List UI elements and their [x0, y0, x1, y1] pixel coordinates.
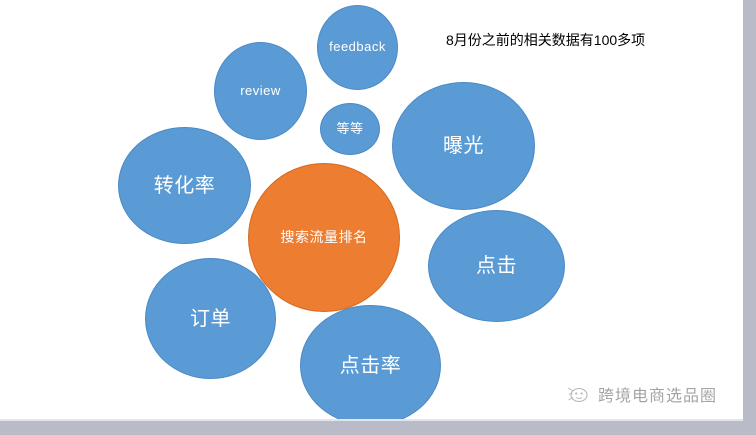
bubble-clicks[interactable]: 点击	[428, 210, 565, 322]
bubble-search-traffic-ranking[interactable]: 搜索流量排名	[248, 163, 400, 312]
bubble-label-exposure: 曝光	[443, 135, 484, 157]
bubble-label-conversion-rate: 转化率	[154, 175, 216, 197]
page-edge-bottom	[0, 421, 756, 435]
watermark: 跨境电商选品圈	[566, 382, 717, 406]
bubble-label-ctr: 点击率	[340, 355, 402, 377]
bubble-ctr[interactable]: 点击率	[300, 305, 441, 421]
bubble-conversion-rate[interactable]: 转化率	[118, 127, 251, 244]
bubble-label-clicks: 点击	[476, 255, 517, 277]
diagram-area: 8月份之前的相关数据有100多项 feedback review 等等 曝光 转…	[0, 0, 743, 421]
bubble-label-orders: 订单	[190, 308, 231, 330]
bubble-label-review: review	[240, 84, 281, 98]
bubble-label-search-traffic-ranking: 搜索流量排名	[281, 230, 368, 245]
face-logo-icon	[566, 383, 592, 405]
bubble-orders[interactable]: 订单	[145, 258, 276, 379]
watermark-text: 跨境电商选品圈	[598, 382, 717, 406]
page-edge-right	[743, 0, 756, 435]
bubble-label-feedback: feedback	[329, 40, 386, 54]
bubble-label-dengdeng: 等等	[336, 122, 363, 136]
bubble-dengdeng[interactable]: 等等	[320, 103, 380, 155]
header-note: 8月份之前的相关数据有100多项	[446, 30, 645, 50]
bubble-review[interactable]: review	[214, 42, 307, 140]
slide-canvas: 8月份之前的相关数据有100多项 feedback review 等等 曝光 转…	[0, 0, 756, 435]
bubble-feedback[interactable]: feedback	[317, 5, 398, 90]
bubble-exposure[interactable]: 曝光	[392, 82, 535, 210]
